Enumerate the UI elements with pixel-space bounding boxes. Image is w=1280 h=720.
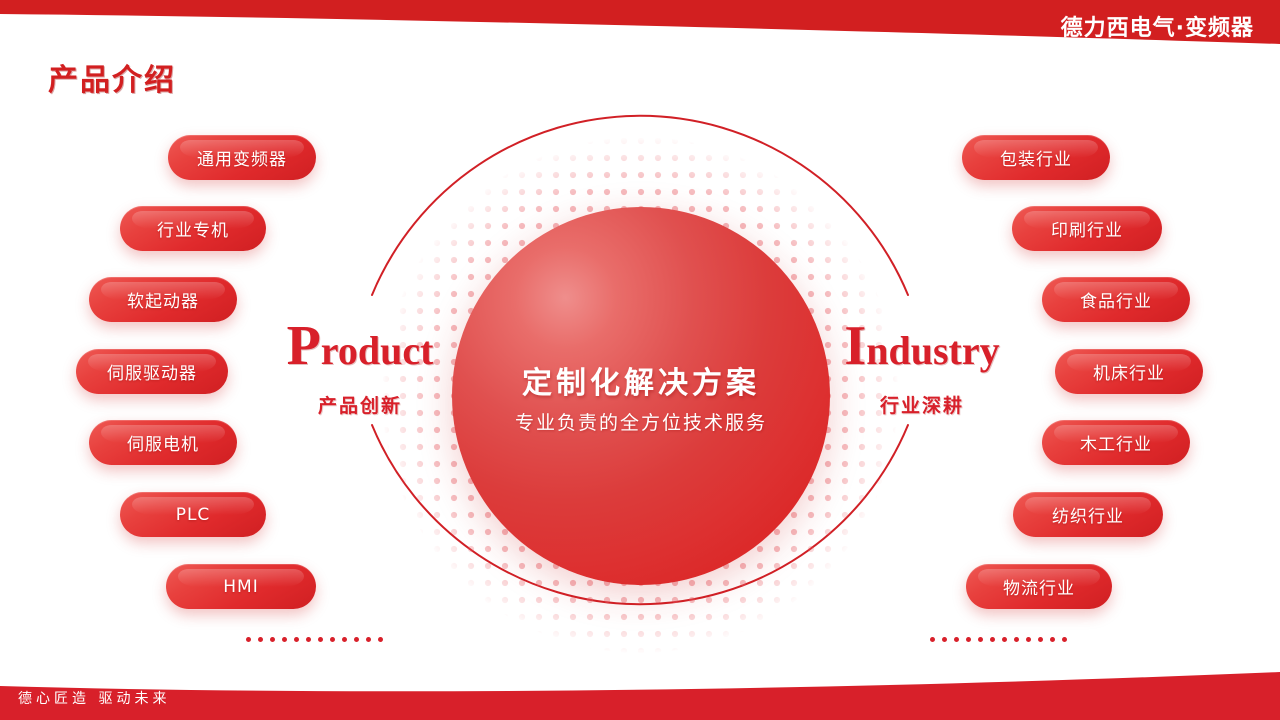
right-trail-dot xyxy=(966,637,971,642)
industry-pill[interactable]: 纺织行业 xyxy=(1013,492,1163,537)
right-trail-dot xyxy=(930,637,935,642)
product-en-capital: P xyxy=(287,315,321,377)
industry-pill[interactable]: 木工行业 xyxy=(1042,420,1190,465)
left-dotted-trail xyxy=(246,634,383,644)
left-trail-dot xyxy=(258,637,263,642)
industry-heading-group: Industry 行业深耕 xyxy=(812,318,1032,418)
left-trail-dot xyxy=(330,637,335,642)
right-trail-dot xyxy=(978,637,983,642)
product-pill[interactable]: 软起动器 xyxy=(89,277,237,322)
right-trail-dot xyxy=(1014,637,1019,642)
left-trail-dot xyxy=(306,637,311,642)
industry-pill-label: 食品行业 xyxy=(1080,287,1152,312)
product-pill-label: PLC xyxy=(176,505,211,525)
left-trail-dot xyxy=(378,637,383,642)
industry-pill-label: 印刷行业 xyxy=(1051,216,1123,241)
product-pill[interactable]: HMI xyxy=(166,564,316,609)
right-trail-dot xyxy=(1038,637,1043,642)
right-trail-dot xyxy=(1050,637,1055,642)
product-en-title: Product xyxy=(250,318,470,374)
industry-pill[interactable]: 物流行业 xyxy=(966,564,1112,609)
product-pill-label: 伺服驱动器 xyxy=(107,359,197,384)
page-title: 产品介绍 xyxy=(48,55,176,99)
left-trail-dot xyxy=(366,637,371,642)
industry-pill[interactable]: 包装行业 xyxy=(962,135,1110,180)
product-pill[interactable]: 通用变频器 xyxy=(168,135,316,180)
left-trail-dot xyxy=(270,637,275,642)
left-trail-dot xyxy=(246,637,251,642)
brand-title: 德力西电气·变频器 xyxy=(1061,10,1254,42)
product-pill[interactable]: PLC xyxy=(120,492,266,537)
right-trail-dot xyxy=(1002,637,1007,642)
product-pill-label: HMI xyxy=(223,577,258,597)
right-trail-dot xyxy=(942,637,947,642)
industry-pill-label: 纺织行业 xyxy=(1052,502,1124,527)
center-sphere xyxy=(452,207,830,585)
industry-en-capital: I xyxy=(844,315,866,377)
right-trail-dot xyxy=(1062,637,1067,642)
industry-pill-label: 包装行业 xyxy=(1000,145,1072,170)
product-cn-label: 产品创新 xyxy=(250,391,470,418)
product-pill-label: 伺服电机 xyxy=(127,430,199,455)
industry-pill-label: 木工行业 xyxy=(1080,430,1152,455)
product-pill[interactable]: 伺服驱动器 xyxy=(76,349,228,394)
right-trail-dot xyxy=(954,637,959,642)
industry-pill-label: 机床行业 xyxy=(1093,359,1165,384)
right-dotted-trail xyxy=(930,634,1067,644)
slide-canvas: 德力西电气·变频器 产品介绍 xyxy=(0,0,1280,720)
industry-pill[interactable]: 食品行业 xyxy=(1042,277,1190,322)
product-pill[interactable]: 伺服电机 xyxy=(89,420,237,465)
left-trail-dot xyxy=(342,637,347,642)
product-pill-label: 软起动器 xyxy=(127,287,199,312)
industry-en-rest: ndustry xyxy=(866,328,999,373)
industry-pill[interactable]: 印刷行业 xyxy=(1012,206,1162,251)
industry-cn-label: 行业深耕 xyxy=(812,391,1032,418)
industry-pill[interactable]: 机床行业 xyxy=(1055,349,1203,394)
product-heading-group: Product 产品创新 xyxy=(250,318,470,418)
industry-pill-label: 物流行业 xyxy=(1003,574,1075,599)
product-pill-label: 通用变频器 xyxy=(197,145,287,170)
product-en-rest: roduct xyxy=(321,328,434,373)
product-pill[interactable]: 行业专机 xyxy=(120,206,266,251)
left-trail-dot xyxy=(354,637,359,642)
industry-en-title: Industry xyxy=(812,318,1032,374)
left-trail-dot xyxy=(294,637,299,642)
product-pill-label: 行业专机 xyxy=(157,216,229,241)
footer-band xyxy=(0,664,1280,720)
right-trail-dot xyxy=(1026,637,1031,642)
right-trail-dot xyxy=(990,637,995,642)
footer-slogan: 德心匠造 驱动未来 xyxy=(18,688,170,708)
left-trail-dot xyxy=(318,637,323,642)
left-trail-dot xyxy=(282,637,287,642)
